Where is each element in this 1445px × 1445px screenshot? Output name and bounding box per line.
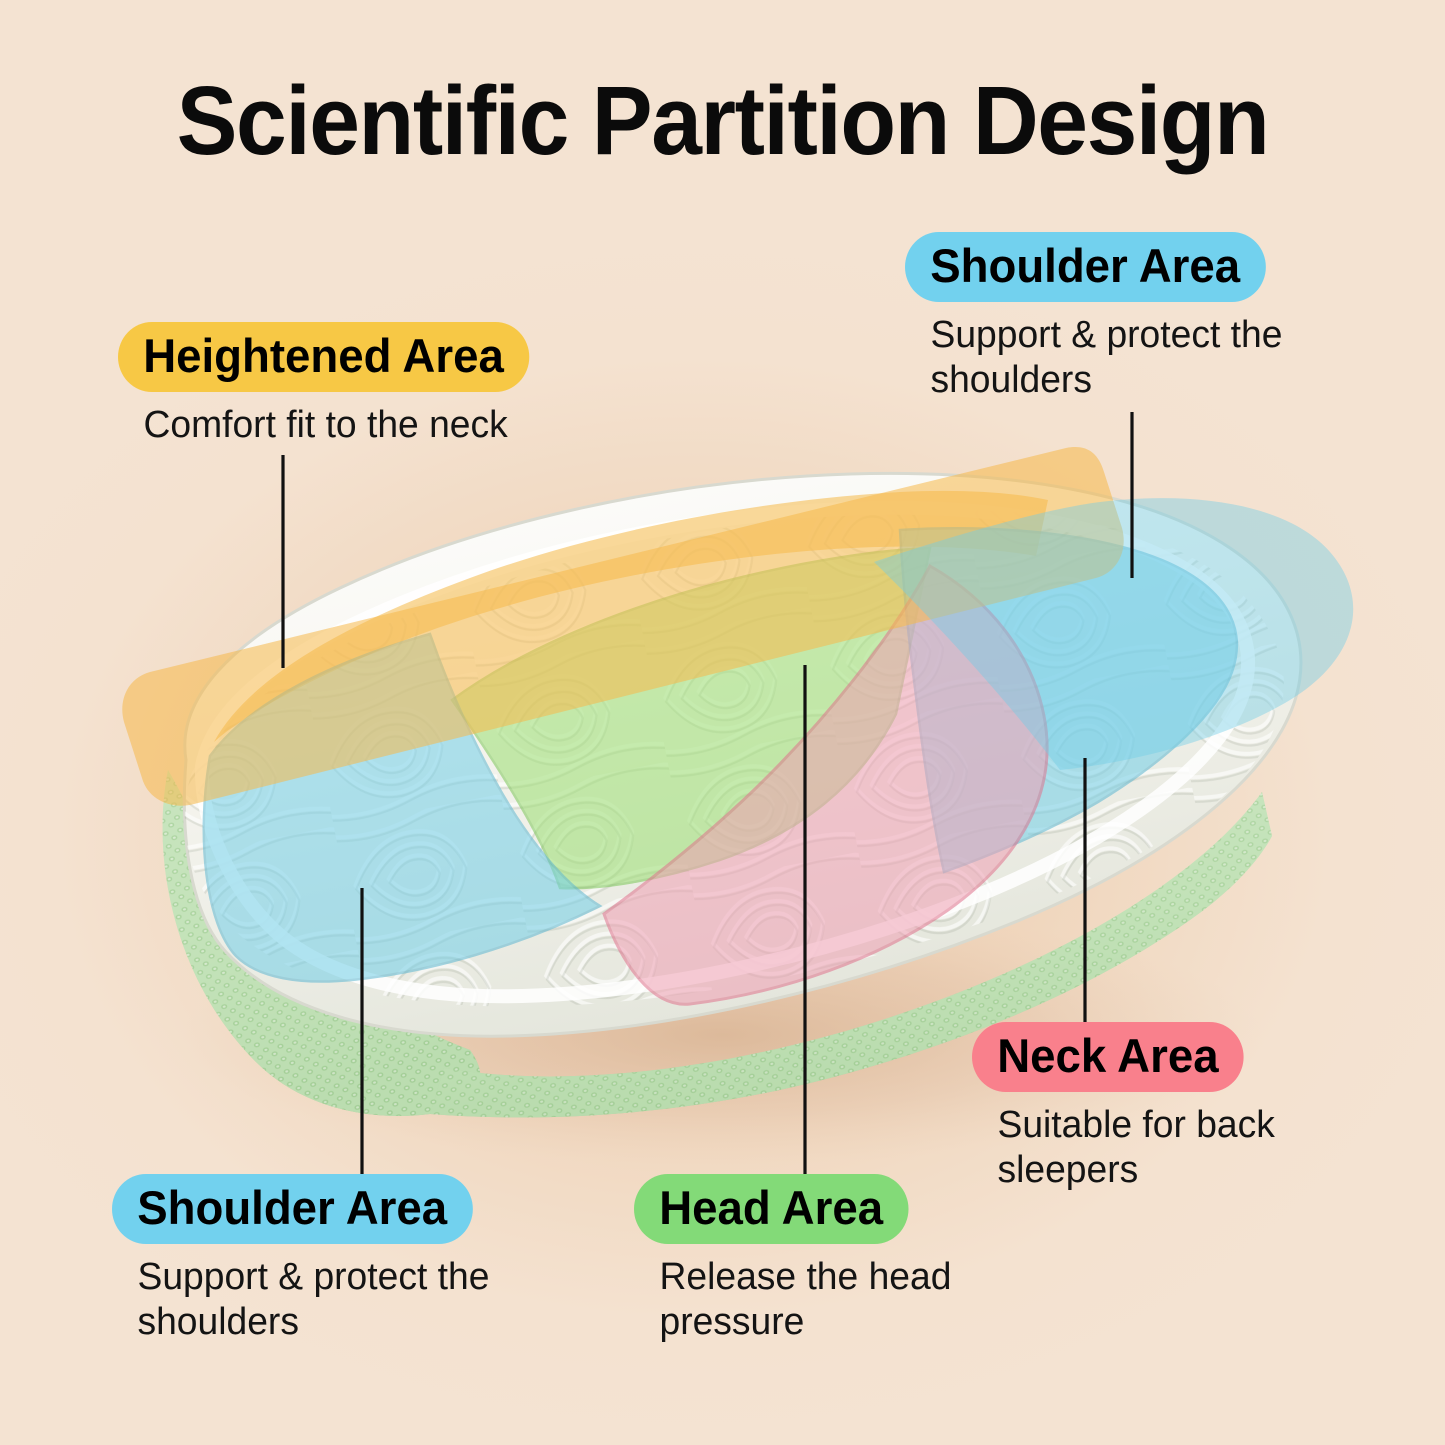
badge-shoulder-area-top[interactable]: Shoulder Area (905, 232, 1265, 302)
badge-neck-area[interactable]: Neck Area (972, 1022, 1244, 1092)
description-head-area: Release the head pressure (634, 1255, 987, 1345)
badge-heightened-area[interactable]: Heightened Area (118, 322, 529, 392)
description-shoulder-area-bottom: Support & protect the shoulders (112, 1255, 543, 1345)
description-heightened-area: Comfort fit to the neck (118, 403, 628, 448)
callout-head-area: Head Area Release the head pressure (634, 1174, 994, 1345)
badge-head-area[interactable]: Head Area (634, 1174, 908, 1244)
page-title: Scientific Partition Design (43, 72, 1401, 171)
badge-shoulder-area-bottom[interactable]: Shoulder Area (112, 1174, 472, 1244)
description-neck-area: Suitable for back sleepers (972, 1103, 1325, 1193)
description-shoulder-area-top: Support & protect the shoulders (905, 313, 1326, 403)
callout-shoulder-area-bottom: Shoulder Area Support & protect the shou… (112, 1174, 552, 1345)
infographic-canvas: Scientific Partition Design Heightened A… (0, 0, 1445, 1445)
callout-shoulder-area-top: Shoulder Area Support & protect the shou… (905, 232, 1335, 403)
callout-heightened-area: Heightened Area Comfort fit to the neck (118, 322, 638, 448)
callout-neck-area: Neck Area Suitable for back sleepers (972, 1022, 1332, 1193)
